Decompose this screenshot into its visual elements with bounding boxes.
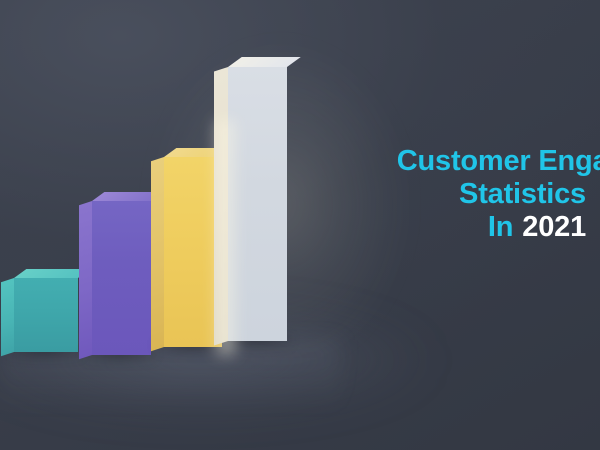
chart-bar-white: [228, 67, 287, 341]
bar-side-face: [79, 201, 92, 359]
banner-canvas: Customer Engag Statistics In2021: [0, 0, 600, 450]
headline-line-3: In2021: [300, 211, 586, 244]
chart-bar-purple: [92, 201, 151, 355]
headline-block: Customer Engag Statistics In2021: [300, 145, 600, 243]
bar-front-face: [14, 278, 78, 352]
bar-side-face: [1, 278, 14, 356]
bar-front-face: [228, 67, 287, 341]
headline-year: 2021: [522, 211, 586, 243]
headline-prefix: In: [488, 211, 513, 243]
bar-side-face: [214, 67, 228, 346]
bar-side-face: [151, 157, 164, 351]
headline-line-2: Statistics: [300, 178, 586, 211]
bar-front-face: [92, 201, 151, 355]
chart-bar-teal: [14, 278, 78, 352]
bar-top-face: [228, 57, 301, 67]
headline-line-1: Customer Engag: [300, 145, 600, 178]
